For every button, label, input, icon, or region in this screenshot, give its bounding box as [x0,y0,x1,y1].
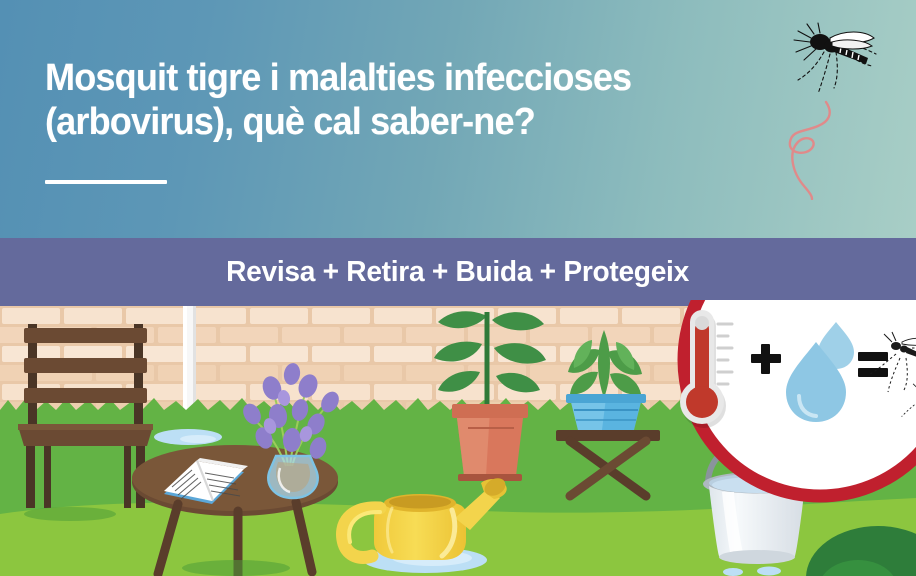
water-puddle [154,429,222,445]
title-line-1: Mosquit tigre i malalties infeccioses [45,56,796,100]
info-badge [668,300,916,518]
title-line-2: (arbovirus), què cal saber-ne? [45,100,796,144]
header-banner: Mosquit tigre i malalties infeccioses (a… [0,0,916,238]
page-title: Mosquit tigre i malalties infeccioses (a… [45,56,835,144]
downspout-pipe [183,306,196,418]
title-underline-rule [45,180,167,184]
slogan-text: Revisa + Retira + Buida + Protegeix [227,256,690,289]
equation-badge [668,300,916,518]
slogan-banner: Revisa + Retira + Buida + Protegeix [0,238,916,306]
poster-root: Mosquit tigre i malalties infeccioses (a… [0,0,916,576]
flight-path-squiggle-icon [778,100,858,200]
